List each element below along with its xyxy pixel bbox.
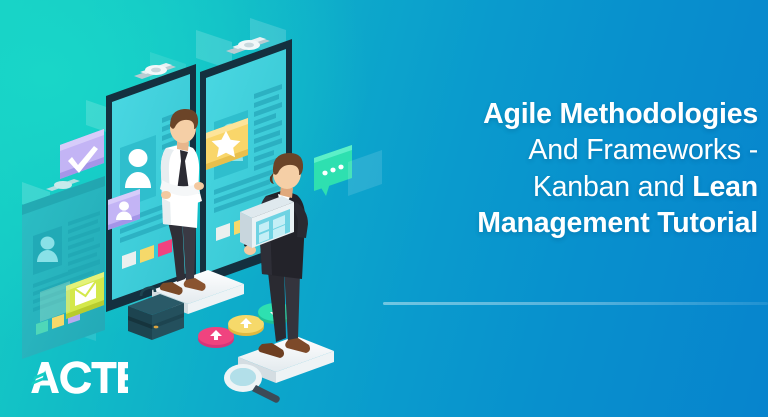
acte-logo[interactable] [28,360,128,405]
agile-kanban-isometric-illustration [0,0,400,417]
banner: Agile Methodologies And Frameworks - Kan… [0,0,768,417]
chat-bubble [314,145,352,196]
pill-pink [198,327,234,348]
title-line-3: Kanban and Lean [383,169,758,205]
title-line-3-light: Kanban and [533,171,692,203]
pill-yellow [228,315,264,336]
title-line-3-bold: Lean [692,171,758,203]
title-line-4: Management Tutorial [383,205,758,241]
clipboard-back [22,176,105,359]
title-line-1: Agile Methodologies [383,96,758,132]
banner-title: Agile Methodologies And Frameworks - Kan… [383,96,758,242]
check-card [60,129,104,179]
title-line-2: And Frameworks - [383,132,758,168]
title-underline [383,302,768,305]
